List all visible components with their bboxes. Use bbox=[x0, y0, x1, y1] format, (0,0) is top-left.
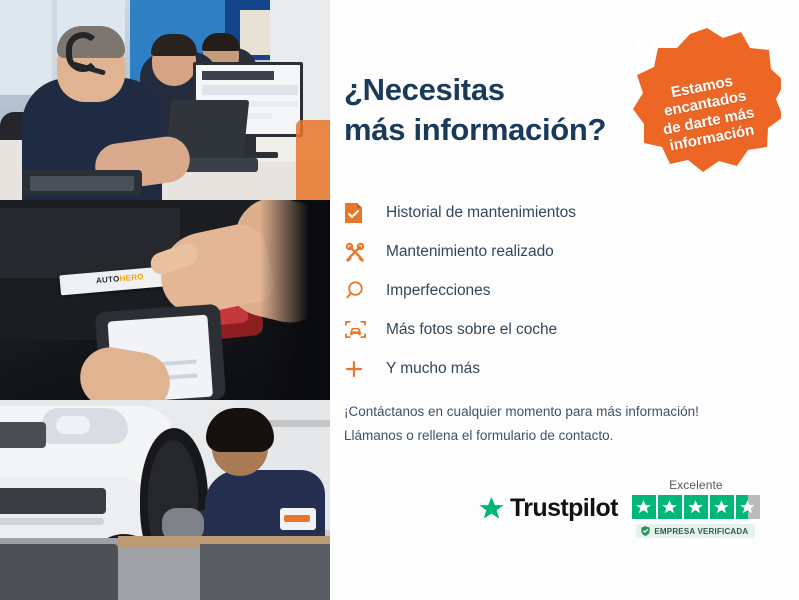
desk-tablet-screen bbox=[30, 176, 134, 191]
ruler-brand: AUTOHERO bbox=[96, 272, 145, 285]
monitor-row-one bbox=[202, 85, 298, 95]
trustpilot-widget[interactable]: Trustpilot Excelente EMPRESA VERIFICAD bbox=[478, 478, 798, 538]
call-center-agents-photo bbox=[0, 0, 330, 200]
star-half bbox=[736, 495, 760, 519]
plus-icon bbox=[344, 359, 380, 379]
feature-label: Y mucho más bbox=[380, 360, 480, 378]
feature-item-historial: Historial de mantenimientos bbox=[344, 193, 674, 232]
uniform-logo-mark bbox=[284, 515, 310, 522]
car-lower-grille bbox=[0, 488, 106, 514]
trustpilot-star-icon bbox=[478, 496, 505, 522]
page-title: ¿Necesitas más información? bbox=[344, 70, 644, 149]
page-title-line-two: más información? bbox=[344, 110, 644, 150]
wall-poster bbox=[240, 10, 270, 55]
verified-company-label: EMPRESA VERIFICADA bbox=[654, 527, 748, 536]
feature-item-fotos: Más fotos sobre el coche bbox=[344, 310, 674, 349]
document-check-icon bbox=[344, 202, 380, 224]
trustpilot-rating: Excelente EMPRESA VERIFICADA bbox=[632, 478, 760, 538]
feature-list: Historial de mantenimientos M bbox=[344, 193, 674, 388]
headlight-lens bbox=[56, 416, 90, 434]
headset-icon bbox=[633, 26, 661, 54]
contact-line-two: Llámanos o rellena el formulario de cont… bbox=[344, 424, 784, 448]
mechanic-wheel-inspection-photo bbox=[0, 400, 330, 600]
car-photo-frame-icon bbox=[344, 319, 380, 340]
bumper-chrome-trim bbox=[0, 518, 104, 525]
trustpilot-logo[interactable]: Trustpilot bbox=[478, 494, 618, 523]
tools-wrench-screwdriver-icon bbox=[344, 241, 380, 263]
content-panel: ¿Necesitas más información? Estamos enca… bbox=[330, 0, 799, 600]
contact-paragraph: ¡Contáctanos en cualquier momento para m… bbox=[344, 400, 784, 447]
verified-company-badge: EMPRESA VERIFICADA bbox=[636, 524, 755, 538]
agent-three-hair bbox=[202, 33, 240, 51]
support-badge: Estamos encantados de darte más informac… bbox=[633, 26, 781, 174]
star-filled bbox=[684, 495, 708, 519]
car-upper-grille bbox=[0, 422, 46, 448]
car-inspection-ruler-tablet-photo: AUTOHERO bbox=[0, 200, 330, 400]
feature-label: Historial de mantenimientos bbox=[380, 204, 576, 222]
photo-column: AUTOHERO bbox=[0, 0, 330, 600]
mechanic-hair bbox=[206, 408, 274, 452]
feature-item-mucho-mas: Y mucho más bbox=[344, 349, 674, 388]
star-filled bbox=[658, 495, 682, 519]
trustpilot-rating-label: Excelente bbox=[669, 478, 723, 492]
magnifier-icon bbox=[344, 280, 380, 301]
page-title-line-one: ¿Necesitas bbox=[344, 72, 505, 107]
agent-two-hair bbox=[151, 34, 197, 56]
uniform-logo-badge bbox=[280, 508, 316, 530]
tool-cabinet-right bbox=[200, 544, 330, 600]
trustpilot-stars bbox=[632, 495, 760, 519]
feature-label: Mantenimiento realizado bbox=[380, 243, 554, 261]
feature-item-imperfecciones: Imperfecciones bbox=[344, 271, 674, 310]
orange-equipment bbox=[296, 120, 330, 200]
contact-line-one: ¡Contáctanos en cualquier momento para m… bbox=[344, 400, 784, 424]
shield-check-icon bbox=[641, 526, 650, 536]
feature-label: Imperfecciones bbox=[380, 282, 490, 300]
tool-cabinet-left bbox=[0, 544, 118, 600]
star-filled bbox=[710, 495, 734, 519]
trustpilot-wordmark: Trustpilot bbox=[510, 494, 618, 523]
star-filled bbox=[632, 495, 656, 519]
ruler-brand-part-one: AUTO bbox=[96, 274, 120, 285]
photo-vignette bbox=[260, 200, 330, 400]
monitor-titlebar bbox=[202, 71, 274, 80]
car-headlight bbox=[42, 408, 128, 444]
promo-card: AUTOHERO bbox=[0, 0, 799, 600]
ruler-brand-part-two: HERO bbox=[119, 272, 144, 283]
feature-label: Más fotos sobre el coche bbox=[380, 321, 557, 339]
feature-item-mantenimiento: Mantenimiento realizado bbox=[344, 232, 674, 271]
